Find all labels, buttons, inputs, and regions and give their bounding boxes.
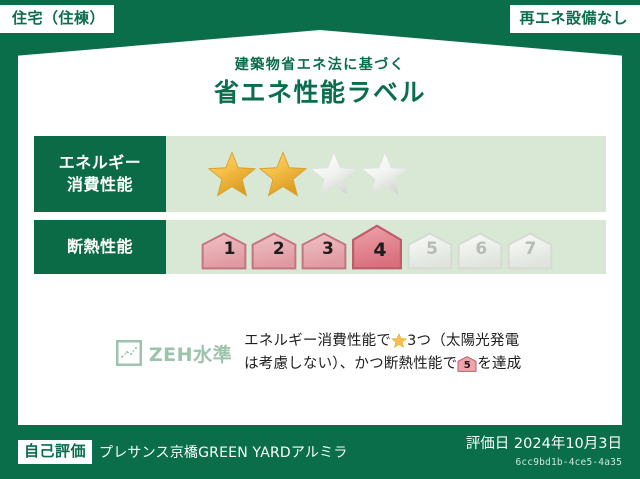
insulation-performance-row: 断熱性能 <box>34 220 606 274</box>
self-evaluation-badge: 自己評価 <box>18 440 92 463</box>
star-icon-empty-3 <box>310 151 358 197</box>
house-number-6: 6 <box>458 239 505 261</box>
insulation-performance-label-cell: 断熱性能 <box>34 220 166 274</box>
star-icon-filled-1 <box>208 151 256 197</box>
star-icon-filled-2 <box>259 151 307 197</box>
house-number-4: 4 <box>353 239 406 261</box>
title-subtitle: 建築物省エネ法に基づく <box>18 58 622 73</box>
page-title: 省エネ性能ラベル <box>18 79 622 107</box>
energy-rating-stars <box>166 136 606 212</box>
evaluation-id: 6cc9bd1b-4ce5-4a35 <box>466 457 622 468</box>
energy-label-line1: エネルギー <box>59 152 142 174</box>
label-footer: 自己評価 プレサンス京橋GREEN YARDアルミラ 評価日 2024年10月3… <box>0 425 640 479</box>
zeh-chart-icon <box>116 340 142 366</box>
zeh-mark: ZEH水準 <box>116 340 232 367</box>
footer-left-group: 自己評価 プレサンス京橋GREEN YARDアルミラ <box>18 440 348 463</box>
building-type-badge: 住宅（住棟） <box>0 5 114 33</box>
insulation-label: 断熱性能 <box>67 236 133 258</box>
house-number-3: 3 <box>304 239 351 261</box>
property-name: プレサンス京橋GREEN YARDアルミラ <box>99 442 348 462</box>
zeh-label: ZEH水準 <box>149 340 232 367</box>
insulation-rating-houses: 1 2 3 4 5 6 7 <box>166 220 606 274</box>
energy-performance-label: 住宅（住棟） 再エネ設備なし 建築物省エネ法に基づく 省エネ性能ラベル エネルギ… <box>0 0 640 479</box>
label-sheet: 建築物省エネ法に基づく 省エネ性能ラベル エネルギー 消費性能 <box>18 30 622 425</box>
energy-performance-label-cell: エネルギー 消費性能 <box>34 136 166 212</box>
zeh-desc-part4: を達成 <box>477 356 521 372</box>
zeh-description: エネルギー消費性能で3つ（太陽光発電は考慮しない）、かつ断熱性能で5を達成 <box>244 330 524 376</box>
star-icon-inline <box>391 333 407 348</box>
footer-right-group: 評価日 2024年10月3日 6cc9bd1b-4ce5-4a35 <box>466 436 622 467</box>
house-number-2: 2 <box>255 239 302 261</box>
energy-label-line2: 消費性能 <box>67 174 133 196</box>
energy-performance-row: エネルギー 消費性能 <box>34 136 606 212</box>
evaluation-date: 評価日 2024年10月3日 <box>466 436 622 453</box>
zeh-desc-part3: は考慮しない）、かつ断熱性能で <box>244 356 457 372</box>
star-rating <box>208 151 409 197</box>
house-icon-inline-number: 5 <box>457 361 477 371</box>
house-icon-inline: 5 <box>457 356 477 372</box>
star-icon-empty-4 <box>361 151 409 197</box>
house-number-7: 7 <box>507 239 554 261</box>
house-number-1: 1 <box>206 239 253 261</box>
zeh-note: ZEH水準 エネルギー消費性能で3つ（太陽光発電は考慮しない）、かつ断熱性能で5… <box>18 330 622 376</box>
title-block: 建築物省エネ法に基づく 省エネ性能ラベル <box>18 58 622 107</box>
house-number-5: 5 <box>409 239 456 261</box>
zeh-desc-part1: エネルギー消費性能で <box>244 333 391 349</box>
ratings-table: エネルギー 消費性能 <box>34 136 606 282</box>
zeh-desc-part2: 3つ（太陽光発電 <box>407 333 519 349</box>
renewable-energy-badge: 再エネ設備なし <box>510 5 640 33</box>
